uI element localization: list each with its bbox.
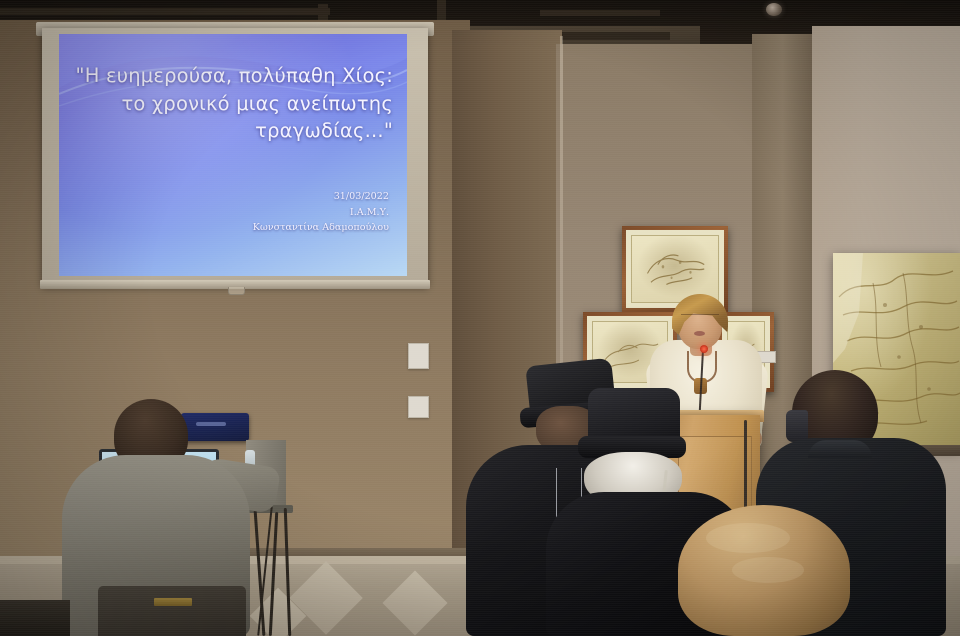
slide-presenter: Κωνσταντίνα Αδαμοπούλου [73,220,389,236]
hair-highlight [732,557,804,583]
slide-organization: Ι.Α.Μ.Υ. [73,205,389,221]
foreground-shadow [0,600,70,636]
speaker-mouth [694,331,705,336]
map-engraving [631,235,719,303]
projection-screen: "Η ευημερούσα, πολύπαθη Χίος: το χρονικό… [59,34,407,276]
screen-pull-handle[interactable] [228,287,245,295]
exhibit-wall-label [408,396,429,418]
blonde-attendee-head [678,505,850,636]
face-mask [786,410,808,442]
microphone-indicator-light [700,345,708,353]
slide-title-line-3: τραγωδίας..." [73,117,393,145]
photograph-scene: "Η ευημερούσα, πολύπαθη Χίος: το χρονικό… [0,0,960,636]
chair-plaque [154,598,192,606]
jacket-collar [808,440,872,458]
projector-vent [196,422,226,426]
slide-title-line-1: "Η ευημερούσα, πολύπαθη Χίος: [73,62,393,90]
ceiling-beam [540,10,660,16]
slide-metadata: 31/03/2022 Ι.Α.Μ.Υ. Κωνσταντίνα Αδαμοπού… [73,189,389,236]
ceiling-beam [0,8,330,15]
speaker-glasses [681,314,719,323]
ceiling-spotlight-icon [766,3,782,16]
video-projector [181,413,249,441]
audience-chair [98,586,246,636]
hair-highlight [706,523,790,553]
exhibit-wall-label [408,343,429,369]
map-engraving-lines [632,236,718,302]
slide-title: "Η ευημερούσα, πολύπαθη Χίος: το χρονικό… [73,62,393,145]
slide-date: 31/03/2022 [73,189,389,205]
slide-title-line-2: το χρονικό μιας ανείπωτης [73,90,393,118]
